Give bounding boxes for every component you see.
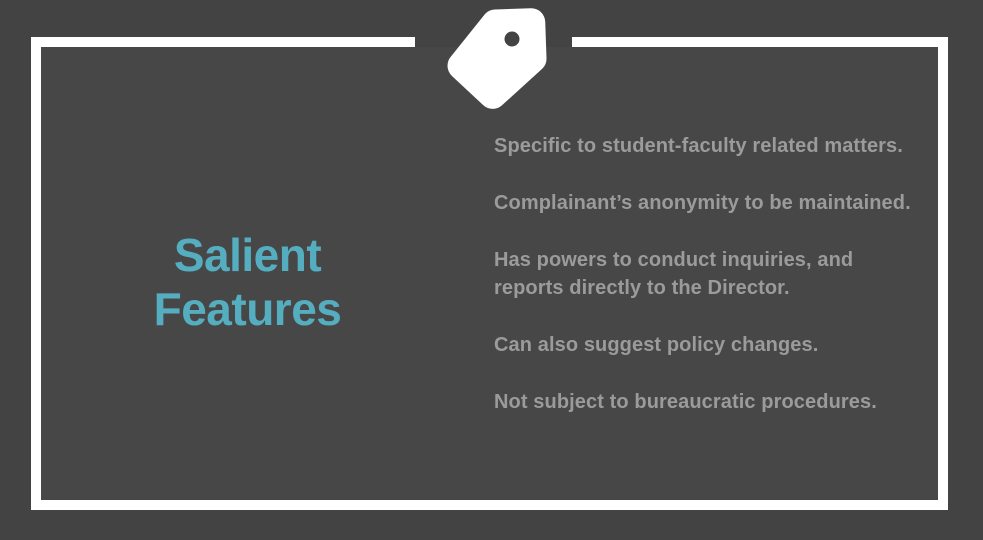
list-item: Specific to student-faculty related matt… bbox=[494, 132, 924, 160]
page-title-line-1: Salient bbox=[60, 228, 435, 282]
page-title-line-2: Features bbox=[60, 282, 435, 336]
page-title: Salient Features bbox=[60, 228, 435, 336]
list-item: Has powers to conduct inquiries, and rep… bbox=[494, 246, 924, 302]
list-item: Not subject to bureaucratic procedures. bbox=[494, 388, 924, 416]
frame-border-top-right bbox=[572, 37, 948, 47]
frame-border-right bbox=[938, 37, 948, 510]
list-item: Can also suggest policy changes. bbox=[494, 331, 924, 359]
features-list: Specific to student-faculty related matt… bbox=[494, 132, 924, 416]
list-item: Complainant’s anonymity to be maintained… bbox=[494, 189, 924, 217]
frame-border-top-left bbox=[31, 37, 415, 47]
slide-canvas: Salient Features Specific to student-fac… bbox=[0, 0, 983, 540]
frame-border-left bbox=[31, 37, 41, 510]
tag-icon bbox=[442, 6, 550, 112]
frame-border-bottom bbox=[31, 500, 948, 510]
